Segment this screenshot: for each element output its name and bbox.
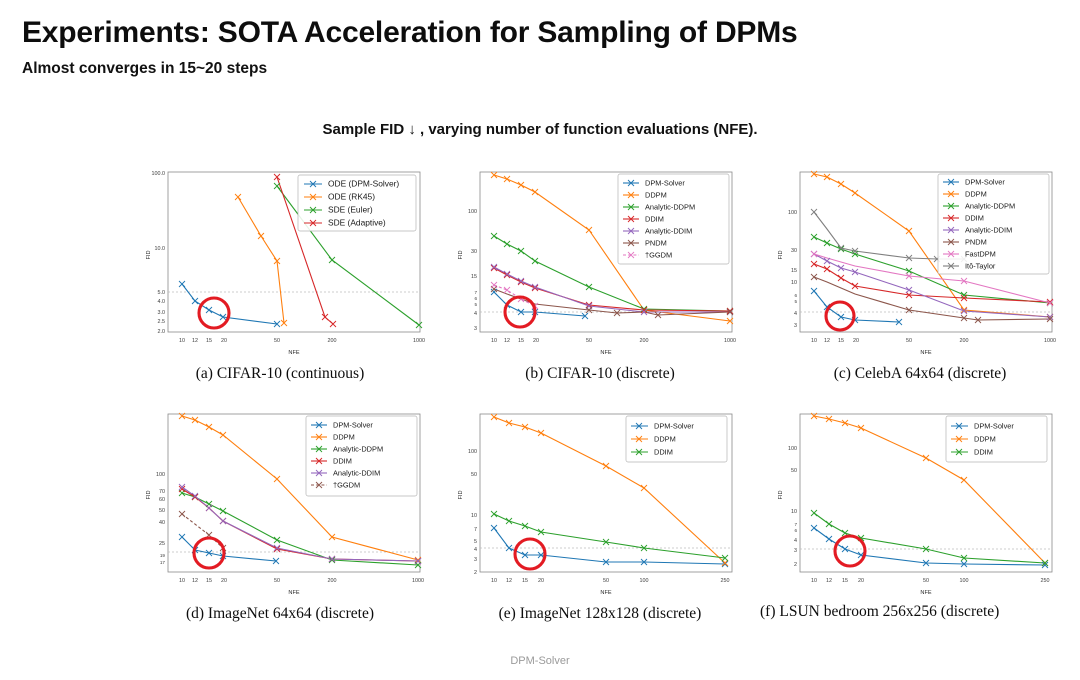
svg-text:12: 12 [506, 578, 512, 584]
chart-d-xlabel: NFE [288, 590, 299, 596]
chart-d-svg: 100 70 60 50 40 25 19 17 10 12 15 20 50 … [120, 400, 440, 600]
chart-a-yticks: 100.0 10.0 5.0 4.0 3.0 2.5 2.0 [152, 171, 166, 335]
chart-f-legend-item: DDPM [974, 435, 996, 444]
svg-text:12: 12 [192, 578, 198, 584]
svg-text:12: 12 [504, 338, 510, 344]
slide: Experiments: SOTA Acceleration for Sampl… [0, 0, 1080, 680]
svg-text:15: 15 [206, 338, 212, 344]
chart-f-svg: 100 50 10 7 6 4 3 2 10 12 15 20 50 100 2… [760, 400, 1080, 600]
svg-text:5.0: 5.0 [158, 290, 166, 296]
chart-c-legend: DPM-Solver DDPM Analytic-DDPM DDIM Analy… [938, 174, 1049, 274]
svg-text:100: 100 [640, 578, 649, 584]
chart-a-ylabel: FID [146, 250, 152, 259]
chart-f-yticks: 100 50 10 7 6 4 3 2 [788, 446, 797, 568]
svg-text:2.0: 2.0 [158, 329, 166, 335]
figure-grid: 100.0 10.0 5.0 4.0 3.0 2.5 2.0 10 12 15 … [120, 160, 1080, 660]
chart-d-legend-item: Analytic-DDPM [333, 445, 383, 454]
svg-text:12: 12 [824, 338, 830, 344]
panel-caption-a: (a) CIFAR-10 (continuous) [115, 365, 445, 382]
chart-b-legend-item: DPM-Solver [645, 179, 685, 188]
chart-e-legend-item: DDIM [654, 448, 673, 457]
svg-text:200: 200 [328, 578, 337, 584]
chart-c-legend-item: DDIM [965, 214, 984, 223]
chart-c-legend-item: Analytic-DDIM [965, 226, 1012, 235]
svg-text:50: 50 [906, 338, 912, 344]
svg-text:100: 100 [960, 578, 969, 584]
svg-text:20: 20 [221, 338, 227, 344]
svg-text:50: 50 [791, 468, 797, 474]
svg-text:10: 10 [179, 578, 185, 584]
chart-e-ylabel: FID [458, 490, 464, 499]
chart-c-svg: 100 30 15 10 6 5 4 3 10 12 15 20 50 200 … [760, 160, 1080, 360]
chart-panel-f: 100 50 10 7 6 4 3 2 10 12 15 20 50 100 2… [760, 400, 1080, 600]
chart-d-legend-item: DDIM [333, 457, 352, 466]
svg-text:60: 60 [159, 497, 165, 503]
svg-text:7: 7 [794, 522, 797, 527]
svg-text:5: 5 [474, 539, 477, 545]
svg-text:19: 19 [160, 553, 166, 558]
svg-text:100: 100 [156, 472, 165, 478]
footer-note: DPM-Solver [0, 655, 1080, 667]
figure-caption: Sample FID ↓ , varying number of functio… [0, 121, 1080, 138]
svg-text:100: 100 [468, 449, 477, 455]
svg-text:20: 20 [853, 338, 859, 344]
chart-b-xticks: 10 12 15 20 50 200 1000 [491, 338, 736, 344]
chart-e-legend-item: DPM-Solver [654, 422, 694, 431]
chart-c-yticks: 100 30 15 10 6 5 4 3 [788, 210, 797, 329]
chart-c-legend-item: DDPM [965, 190, 987, 199]
chart-c-ylabel: FID [778, 250, 784, 259]
svg-text:50: 50 [603, 578, 609, 584]
svg-text:50: 50 [586, 338, 592, 344]
svg-text:20: 20 [533, 338, 539, 344]
svg-text:100: 100 [468, 209, 477, 215]
svg-text:15: 15 [471, 274, 477, 280]
svg-text:200: 200 [640, 338, 649, 344]
svg-text:15: 15 [838, 338, 844, 344]
chart-f-xticks: 10 12 15 20 50 100 250 [811, 578, 1050, 584]
chart-b-legend-item: PNDM [645, 239, 667, 248]
svg-text:3: 3 [794, 323, 797, 329]
chart-b-legend-item: Analytic-DDIM [645, 227, 692, 236]
svg-text:3: 3 [794, 548, 797, 554]
svg-text:5: 5 [474, 302, 477, 307]
svg-text:10: 10 [791, 509, 797, 515]
chart-f-xlabel: NFE [920, 590, 931, 596]
chart-d-xticks: 10 12 15 20 50 200 1000 [179, 578, 424, 584]
chart-c-legend-item: DPM-Solver [965, 178, 1005, 187]
page-title: Experiments: SOTA Acceleration for Sampl… [22, 16, 798, 50]
svg-text:4.0: 4.0 [158, 299, 166, 305]
panel-caption-b: (b) CIFAR-10 (discrete) [435, 365, 765, 382]
chart-a-xlabel: NFE [288, 350, 299, 356]
chart-a-plot-area: 100.0 10.0 5.0 4.0 3.0 2.5 2.0 10 12 15 … [146, 171, 425, 356]
svg-text:15: 15 [842, 578, 848, 584]
chart-d-legend: DPM-Solver DDPM Analytic-DDPM DDIM Analy… [306, 416, 417, 496]
svg-text:100: 100 [788, 446, 797, 452]
chart-a-legend-item: ODE (DPM-Solver) [328, 179, 399, 189]
svg-text:7: 7 [474, 527, 477, 533]
chart-a-legend-item: SDE (Adaptive) [328, 218, 386, 228]
chart-c-xlabel: NFE [920, 350, 931, 356]
svg-text:17: 17 [160, 560, 166, 565]
svg-text:12: 12 [192, 338, 198, 344]
chart-c-legend-item: PNDM [965, 238, 987, 247]
svg-text:20: 20 [538, 578, 544, 584]
svg-text:50: 50 [274, 578, 280, 584]
svg-text:1000: 1000 [413, 338, 425, 344]
svg-text:15: 15 [518, 338, 524, 344]
svg-text:40: 40 [159, 520, 165, 526]
chart-c-legend-item: Analytic-DDPM [965, 202, 1015, 211]
svg-text:10: 10 [811, 578, 817, 584]
svg-text:2.5: 2.5 [158, 319, 166, 325]
chart-a-legend-item: SDE (Euler) [328, 205, 373, 215]
svg-text:30: 30 [471, 249, 477, 255]
chart-panel-c: 100 30 15 10 6 5 4 3 10 12 15 20 50 200 … [760, 160, 1080, 360]
chart-a-xticks: 10 12 15 20 50 200 1000 [179, 338, 425, 344]
chart-f-ylabel: FID [778, 490, 784, 499]
chart-b-xlabel: NFE [600, 350, 611, 356]
svg-text:6: 6 [794, 293, 797, 298]
chart-a-svg: 100.0 10.0 5.0 4.0 3.0 2.5 2.0 10 12 15 … [120, 160, 440, 360]
svg-text:1000: 1000 [1044, 338, 1056, 344]
svg-text:10: 10 [491, 338, 497, 344]
svg-text:2: 2 [474, 570, 477, 576]
chart-b-legend-item: Analytic-DDPM [645, 203, 695, 212]
chart-c-xticks: 10 12 15 20 50 200 1000 [811, 338, 1056, 344]
svg-text:200: 200 [960, 338, 969, 344]
page-subtitle: Almost converges in 15~20 steps [22, 60, 267, 78]
panel-caption-f: (f) LSUN bedroom 256x256 (discrete) [760, 603, 1070, 620]
svg-text:7: 7 [474, 290, 477, 295]
svg-text:10: 10 [179, 338, 185, 344]
chart-a-legend: ODE (DPM-Solver) ODE (RK45) SDE (Euler) … [298, 175, 416, 231]
chart-d-yticks: 100 70 60 50 40 25 19 17 [156, 472, 165, 565]
svg-text:15: 15 [206, 578, 212, 584]
chart-panel-b: 100 30 15 7 6 5 4 3 10 12 15 20 50 200 1… [440, 160, 760, 360]
svg-text:6: 6 [474, 296, 477, 301]
svg-text:3: 3 [474, 557, 477, 563]
chart-f-legend: DPM-Solver DDPM DDIM [946, 416, 1047, 462]
svg-text:250: 250 [1041, 578, 1050, 584]
svg-text:4: 4 [474, 311, 477, 317]
svg-text:10: 10 [471, 513, 477, 519]
svg-text:20: 20 [221, 578, 227, 584]
svg-text:100: 100 [788, 210, 797, 216]
chart-b-legend-item: DDIM [645, 215, 664, 224]
svg-text:20: 20 [858, 578, 864, 584]
chart-d-legend-item: DPM-Solver [333, 421, 373, 430]
svg-text:200: 200 [328, 338, 337, 344]
chart-e-legend-item: DDPM [654, 435, 676, 444]
chart-d-legend-item: Analytic-DDIM [333, 469, 380, 478]
svg-text:50: 50 [923, 578, 929, 584]
chart-b-legend-item: DDPM [645, 191, 667, 200]
svg-text:10: 10 [791, 280, 797, 286]
panel-caption-c: (c) CelebA 64x64 (discrete) [755, 365, 1080, 382]
chart-b-yticks: 100 30 15 7 6 5 4 3 [468, 209, 477, 332]
chart-e-xlabel: NFE [600, 590, 611, 596]
svg-text:12: 12 [826, 578, 832, 584]
chart-b-legend: DPM-Solver DDPM Analytic-DDPM DDIM Analy… [618, 174, 729, 264]
svg-text:50: 50 [159, 508, 165, 514]
svg-text:3: 3 [474, 326, 477, 332]
svg-text:6: 6 [794, 528, 797, 533]
chart-d-ylabel: FID [146, 490, 152, 499]
svg-text:100.0: 100.0 [152, 171, 166, 177]
svg-text:10: 10 [811, 338, 817, 344]
svg-text:15: 15 [522, 578, 528, 584]
chart-b-legend-item: †GGDM [645, 251, 672, 260]
svg-text:25: 25 [159, 541, 165, 547]
chart-e-xticks: 10 12 15 20 50 100 250 [491, 578, 730, 584]
chart-e-svg: 100 50 10 7 5 4 3 2 10 12 15 20 50 100 2… [440, 400, 760, 600]
chart-f-legend-item: DDIM [974, 448, 993, 457]
svg-text:3.0: 3.0 [158, 310, 166, 316]
chart-e-yticks: 100 50 10 7 5 4 3 2 [468, 449, 477, 576]
svg-text:10.0: 10.0 [155, 246, 166, 252]
svg-text:250: 250 [721, 578, 730, 584]
svg-text:30: 30 [791, 248, 797, 254]
chart-a-legend-item: ODE (RK45) [328, 192, 375, 202]
svg-text:4: 4 [794, 538, 797, 544]
svg-text:1000: 1000 [724, 338, 736, 344]
svg-text:2: 2 [794, 562, 797, 568]
svg-text:10: 10 [491, 578, 497, 584]
svg-text:1000: 1000 [412, 578, 424, 584]
svg-text:50: 50 [274, 338, 280, 344]
chart-d-legend-item: DDPM [333, 433, 355, 442]
svg-text:4: 4 [474, 547, 477, 553]
chart-b-ylabel: FID [458, 250, 464, 259]
panel-caption-d: (d) ImageNet 64x64 (discrete) [115, 605, 445, 622]
panel-caption-e: (e) ImageNet 128x128 (discrete) [435, 605, 765, 622]
chart-e-legend: DPM-Solver DDPM DDIM [626, 416, 727, 462]
chart-panel-e: 100 50 10 7 5 4 3 2 10 12 15 20 50 100 2… [440, 400, 760, 600]
chart-f-legend-item: DPM-Solver [974, 422, 1014, 431]
chart-panel-d: 100 70 60 50 40 25 19 17 10 12 15 20 50 … [120, 400, 440, 600]
chart-c-legend-item: FastDPM [965, 250, 996, 259]
svg-text:4: 4 [794, 311, 797, 317]
chart-b-svg: 100 30 15 7 6 5 4 3 10 12 15 20 50 200 1… [440, 160, 760, 360]
chart-d-legend-item: †GGDM [333, 481, 360, 490]
svg-text:50: 50 [471, 472, 477, 478]
svg-text:70: 70 [159, 489, 165, 495]
chart-panel-a: 100.0 10.0 5.0 4.0 3.0 2.5 2.0 10 12 15 … [120, 160, 440, 360]
svg-text:5: 5 [794, 299, 797, 304]
svg-text:15: 15 [791, 268, 797, 274]
chart-c-legend-item: Itô-Taylor [965, 262, 996, 271]
